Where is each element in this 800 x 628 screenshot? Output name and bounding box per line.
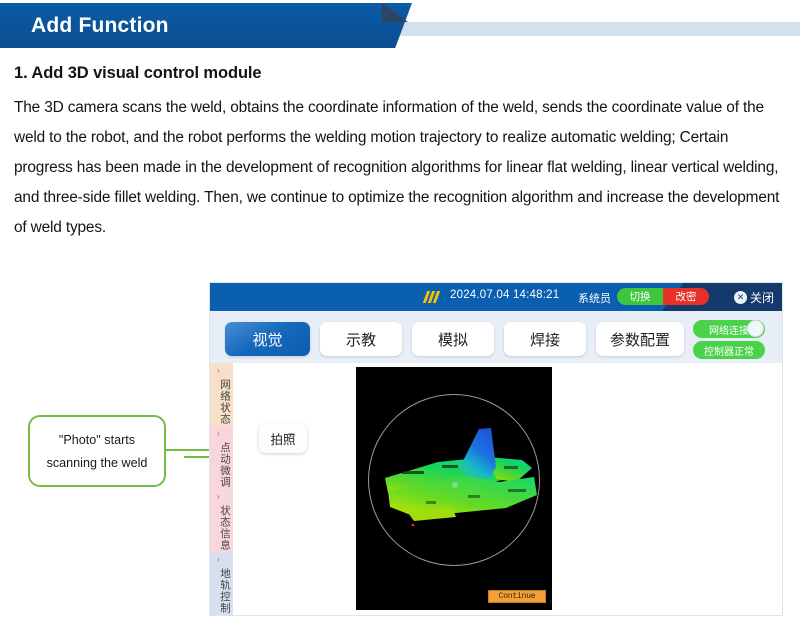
hmi-topbar: 2024.07.04 14:48:21 系统员 切换 改密 ✕ 关闭 [210,283,782,311]
status-badge-controller: 控制器正常 [693,341,765,359]
photo-button[interactable]: 拍照 [259,423,307,453]
close-button-label: 关闭 [750,289,774,306]
switch-user-button[interactable]: 切换 [617,288,663,305]
sidebar-item-network-status[interactable]: 网络状态 [213,376,231,426]
tab-vision[interactable]: 视觉 [225,322,310,356]
triple-slash-icon [425,291,441,303]
continue-button[interactable]: Continue [488,590,546,603]
callout-box: "Photo" starts scanning the weld [28,415,166,487]
article: 1. Add 3D visual control module The 3D c… [14,64,786,243]
callout-line-1: "Photo" starts [59,433,135,447]
ribbon-tail-bar [392,22,800,36]
sidebar-item-jog-fine-tune[interactable]: 点动微调 [213,439,231,489]
network-indicator-dot [747,320,764,337]
change-password-button[interactable]: 改密 [663,288,709,305]
callout-line-2: scanning the weld [47,456,148,470]
timestamp: 2024.07.04 14:48:21 [450,289,559,301]
page-root: Add Function 1. Add 3D visual control mo… [0,0,800,628]
hmi-sidebar: › 网络状态 › 点动微调 › 状态信息 › 地轨控制 [210,363,233,615]
hmi-screenshot: 2024.07.04 14:48:21 系统员 切换 改密 ✕ 关闭 视觉 示教… [210,283,782,615]
tab-teaching[interactable]: 示教 [320,322,402,356]
close-circle-icon: ✕ [734,291,747,304]
sidebar-item-rail-control[interactable]: 地轨控制 [213,565,231,615]
sidebar-item-status-info[interactable]: 状态信息 [213,502,231,552]
tab-welding[interactable]: 焊接 [504,322,586,356]
user-role-label: 系统员 [578,290,611,306]
chevron-right-icon-3: › [217,492,227,501]
chevron-right-icon-2: › [217,429,227,438]
tab-simulation[interactable]: 模拟 [412,322,494,356]
page-header-ribbon: Add Function [0,0,800,52]
pointcloud-viewport[interactable]: Continue [356,367,552,610]
page-title: Add Function [31,3,169,48]
section-paragraph: The 3D camera scans the weld, obtains th… [14,93,786,243]
tab-parameter-config[interactable]: 参数配置 [596,322,684,356]
hmi-tab-bar: 视觉 示教 模拟 焊接 参数配置 网络连接 控制器正常 [210,311,782,363]
hmi-main-panel: 拍照 [233,363,782,615]
weld-pointcloud [356,367,552,610]
close-button[interactable]: ✕ 关闭 [734,288,774,306]
section-heading: 1. Add 3D visual control module [14,64,786,83]
chevron-right-icon-4: › [217,555,227,564]
chevron-right-icon: › [217,366,227,375]
